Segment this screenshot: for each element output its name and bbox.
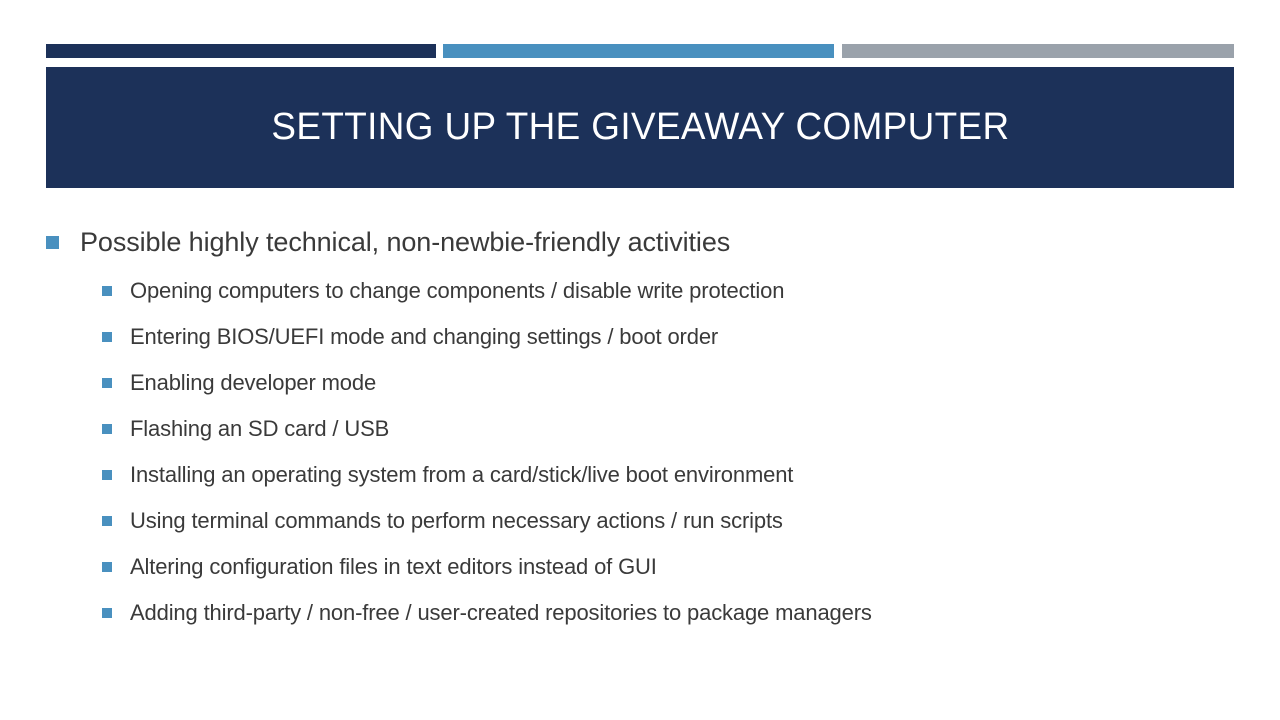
bullet-level2-text: Flashing an SD card / USB [130, 412, 389, 446]
bullet-square-icon [102, 286, 112, 296]
slide-title: Setting Up the Giveaway Computer [271, 107, 1009, 149]
bullet-level1: Possible highly technical, non-newbie-fr… [46, 222, 1236, 262]
bullet-level2-text: Installing an operating system from a ca… [130, 458, 793, 492]
slide-title-band: Setting Up the Giveaway Computer [46, 67, 1234, 188]
bullet-level2-text: Entering BIOS/UEFI mode and changing set… [130, 320, 718, 354]
bullet-square-icon [46, 236, 59, 249]
accent-bar-gray [842, 44, 1234, 58]
bullet-level2: Installing an operating system from a ca… [102, 458, 1236, 492]
bullet-square-icon [102, 332, 112, 342]
bullet-level2: Flashing an SD card / USB [102, 412, 1236, 446]
slide-body: Possible highly technical, non-newbie-fr… [46, 222, 1236, 642]
bullet-square-icon [102, 516, 112, 526]
bullet-level2-text: Using terminal commands to perform neces… [130, 504, 783, 538]
bullet-level1-text: Possible highly technical, non-newbie-fr… [80, 222, 730, 262]
bullet-square-icon [102, 608, 112, 618]
bullet-level2-text: Opening computers to change components /… [130, 274, 784, 308]
bullet-level2: Altering configuration files in text edi… [102, 550, 1236, 584]
bullet-level2: Enabling developer mode [102, 366, 1236, 400]
accent-bar-dark [46, 44, 436, 58]
bullet-level2-list: Opening computers to change components /… [46, 274, 1236, 630]
bullet-level2: Opening computers to change components /… [102, 274, 1236, 308]
bullet-level2: Adding third-party / non-free / user-cre… [102, 596, 1236, 630]
bullet-square-icon [102, 470, 112, 480]
bullet-level2: Using terminal commands to perform neces… [102, 504, 1236, 538]
bullet-square-icon [102, 562, 112, 572]
bullet-level2: Entering BIOS/UEFI mode and changing set… [102, 320, 1236, 354]
bullet-square-icon [102, 378, 112, 388]
bullet-level2-text: Enabling developer mode [130, 366, 376, 400]
bullet-level2-text: Altering configuration files in text edi… [130, 550, 657, 584]
bullet-square-icon [102, 424, 112, 434]
top-accent-bars [0, 44, 1280, 58]
accent-bar-blue [443, 44, 834, 58]
bullet-level2-text: Adding third-party / non-free / user-cre… [130, 596, 872, 630]
